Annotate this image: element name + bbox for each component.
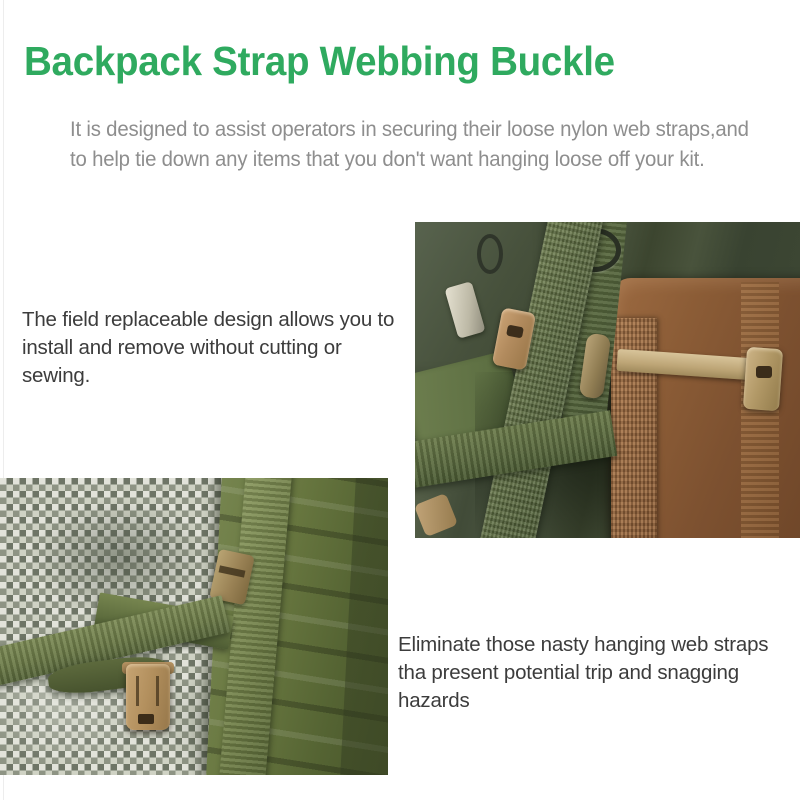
infographic-page: Backpack Strap Webbing Buckle It is desi… <box>0 0 800 800</box>
webbing-buckle-on-coyote <box>743 347 783 411</box>
photo-camo-detail <box>0 478 388 775</box>
feature-text-eliminate-hanging-straps: Eliminate those nasty hanging web straps… <box>398 631 794 715</box>
buckle-rib-left <box>136 676 139 706</box>
buckle-rib-right <box>156 676 159 706</box>
small-ring-hardware <box>477 234 503 274</box>
webbing-buckle-slot-2 <box>756 366 772 378</box>
buckle-slot <box>138 714 154 724</box>
product-description: It is designed to assist operators in se… <box>70 115 768 175</box>
page-title: Backpack Strap Webbing Buckle <box>24 36 720 86</box>
feature-text-field-replaceable: The field replaceable design allows you … <box>22 306 414 390</box>
photo-pack-detail <box>415 222 800 538</box>
